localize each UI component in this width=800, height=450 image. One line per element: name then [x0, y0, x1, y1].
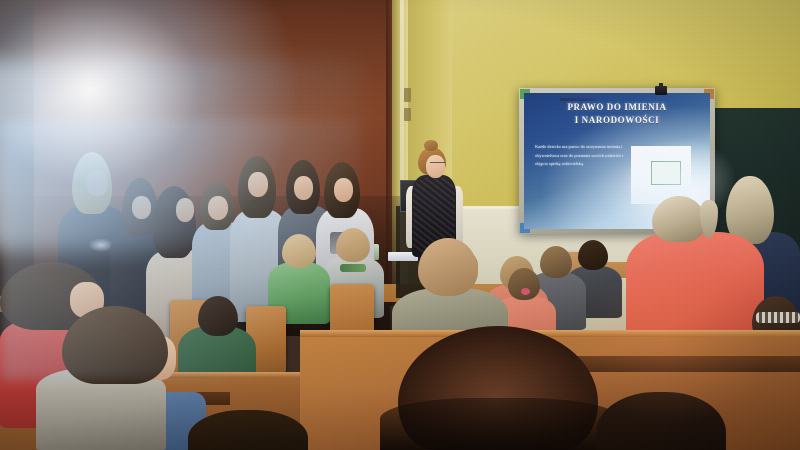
presenter-hair-bun: [424, 140, 438, 151]
classroom-photo: PRAWO DO IMIENIA I NARODOWOŚCI Każde dzi…: [0, 0, 800, 450]
seated-child-head: [540, 246, 572, 278]
seated-child-head: [418, 238, 478, 296]
desk-edge: [300, 330, 800, 337]
standing-student-face: [132, 196, 151, 219]
door-shadow: [34, 0, 400, 120]
standing-student-face: [208, 196, 228, 220]
projector-sensor-icon: [655, 86, 667, 95]
foreground-shadow: [380, 398, 620, 450]
slide-body-text: Każde dziecko ma prawo do otrzymania imi…: [535, 143, 627, 169]
shirt-collar: [340, 264, 366, 272]
glasses-icon: [430, 162, 445, 166]
seated-child-head: [336, 228, 370, 262]
seated-child-head: [198, 296, 238, 336]
standing-student-face: [86, 170, 108, 196]
seated-adult-hair: [652, 196, 706, 242]
whiteboard-top-label: [560, 98, 596, 101]
standing-student-face: [334, 178, 353, 202]
standing-student-face: [176, 198, 194, 222]
hair-bow-icon: [521, 288, 530, 295]
standing-student-face: [294, 176, 313, 200]
presenter-face: [426, 155, 445, 178]
slide-title-line-1: PRAWO DO IMIENIA: [524, 102, 710, 112]
door-hinge-icon: [404, 108, 411, 121]
seated-child-head: [282, 234, 316, 268]
standing-student-face: [248, 172, 268, 197]
slide-title-line-2: I NARODOWOŚCI: [524, 115, 710, 125]
headband: [756, 312, 800, 323]
seated-child-head: [578, 240, 608, 270]
door-hinge-icon: [404, 88, 411, 102]
slide-illustration-frame: [651, 161, 681, 185]
seated-child-head: [508, 268, 540, 300]
